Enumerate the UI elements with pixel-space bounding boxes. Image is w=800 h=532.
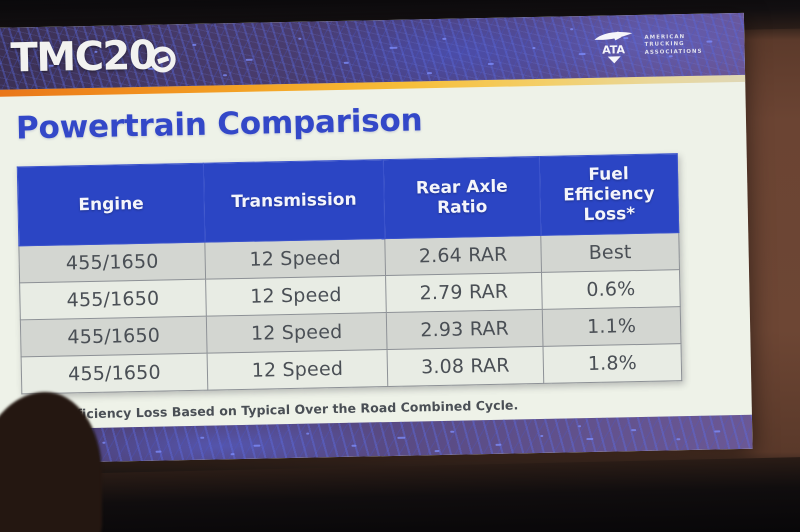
banner-texture-speck [192,44,196,46]
cell-engine: 455/1650 [20,316,207,357]
banner-texture-speck [246,59,253,61]
banner-texture-speck [677,439,681,441]
ata-logo-wordmark: AMERICAN TRUCKING ASSOCIATIONS [644,33,702,57]
table-header-row: Engine Transmission Rear Axle Ratio Fuel… [17,154,678,246]
ata-logo-mark: ATA [592,28,637,65]
column-header-transmission: Transmission [203,160,385,243]
cell-fuel-efficiency-loss: 1.8% [543,344,682,384]
banner-texture-speck [298,37,301,39]
svg-text:ATA: ATA [602,43,626,56]
page-title: Powertrain Comparison [16,96,721,146]
cell-fuel-efficiency-loss: Best [541,233,680,273]
banner-texture-speck [94,51,97,53]
tmc20-logo: TMC20 [10,32,175,81]
cell-fuel-efficiency-loss: 0.6% [542,270,681,310]
cell-transmission: 12 Speed [205,239,386,280]
cell-transmission: 12 Speed [206,276,387,317]
cell-fuel-efficiency-loss: 1.1% [542,307,681,347]
banner-texture-speck [578,53,585,55]
column-header-engine: Engine [17,163,205,246]
banner-texture-speck [344,62,349,64]
banner-texture-speck [397,437,405,439]
banner-texture-speck [306,432,309,434]
banner-texture-speck [231,453,235,455]
banner-texture-speck [631,429,636,431]
cell-transmission: 12 Speed [207,350,388,391]
banner-texture-speck [586,438,593,440]
banner-texture-speck [495,444,501,446]
banner-texture-speck [578,425,581,427]
banner-texture-speck [450,431,454,433]
banner-texture-speck [669,55,673,57]
banner-texture-speck [389,47,397,49]
banner-texture-speck [442,37,446,39]
banner-texture-speck [488,62,494,64]
slide-canvas: TMC20 ATA AMERICAN TRUCKING [0,13,753,464]
cell-rear-axle-ratio: 2.93 RAR [386,310,543,350]
banner-texture-speck [533,47,536,49]
photo-frame: TMC20 ATA AMERICAN TRUCKING [0,0,800,532]
projected-slide: TMC20 ATA AMERICAN TRUCKING [0,13,753,464]
cell-engine: 455/1650 [19,242,206,283]
cell-transmission: 12 Speed [206,313,387,354]
banner-texture-speck [352,445,357,447]
banner-texture-speck [155,450,161,452]
cell-engine: 455/1650 [21,353,208,394]
cell-rear-axle-ratio: 2.79 RAR [386,273,543,313]
banner-texture-speck [102,441,105,443]
banner-texture-speck [200,437,204,439]
tmc20-logo-text: TMC20 [10,33,156,82]
ata-logo: ATA AMERICAN TRUCKING ASSOCIATIONS [592,27,703,65]
banner-texture-speck [253,444,260,446]
banner-texture-speck [223,74,227,76]
banner-texture-speck [435,450,440,452]
cell-engine: 455/1650 [20,279,207,320]
banner-texture-speck [541,435,544,437]
ata-word-line3: ASSOCIATIONS [645,48,703,57]
banner-texture-speck [427,72,432,74]
banner-texture-speck [570,29,573,31]
banner-texture-speck [714,430,720,432]
cell-rear-axle-ratio: 3.08 RAR [387,347,544,387]
cell-rear-axle-ratio: 2.64 RAR [385,236,542,276]
slide-content: Powertrain Comparison Engine [0,82,752,430]
column-header-rear-axle-ratio: Rear Axle Ratio [383,156,541,238]
column-header-fuel-efficiency-loss: Fuel Efficiency Loss* [539,154,679,236]
banner-texture-speck [707,41,713,43]
powertrain-comparison-table: Engine Transmission Rear Axle Ratio Fuel… [17,153,682,394]
